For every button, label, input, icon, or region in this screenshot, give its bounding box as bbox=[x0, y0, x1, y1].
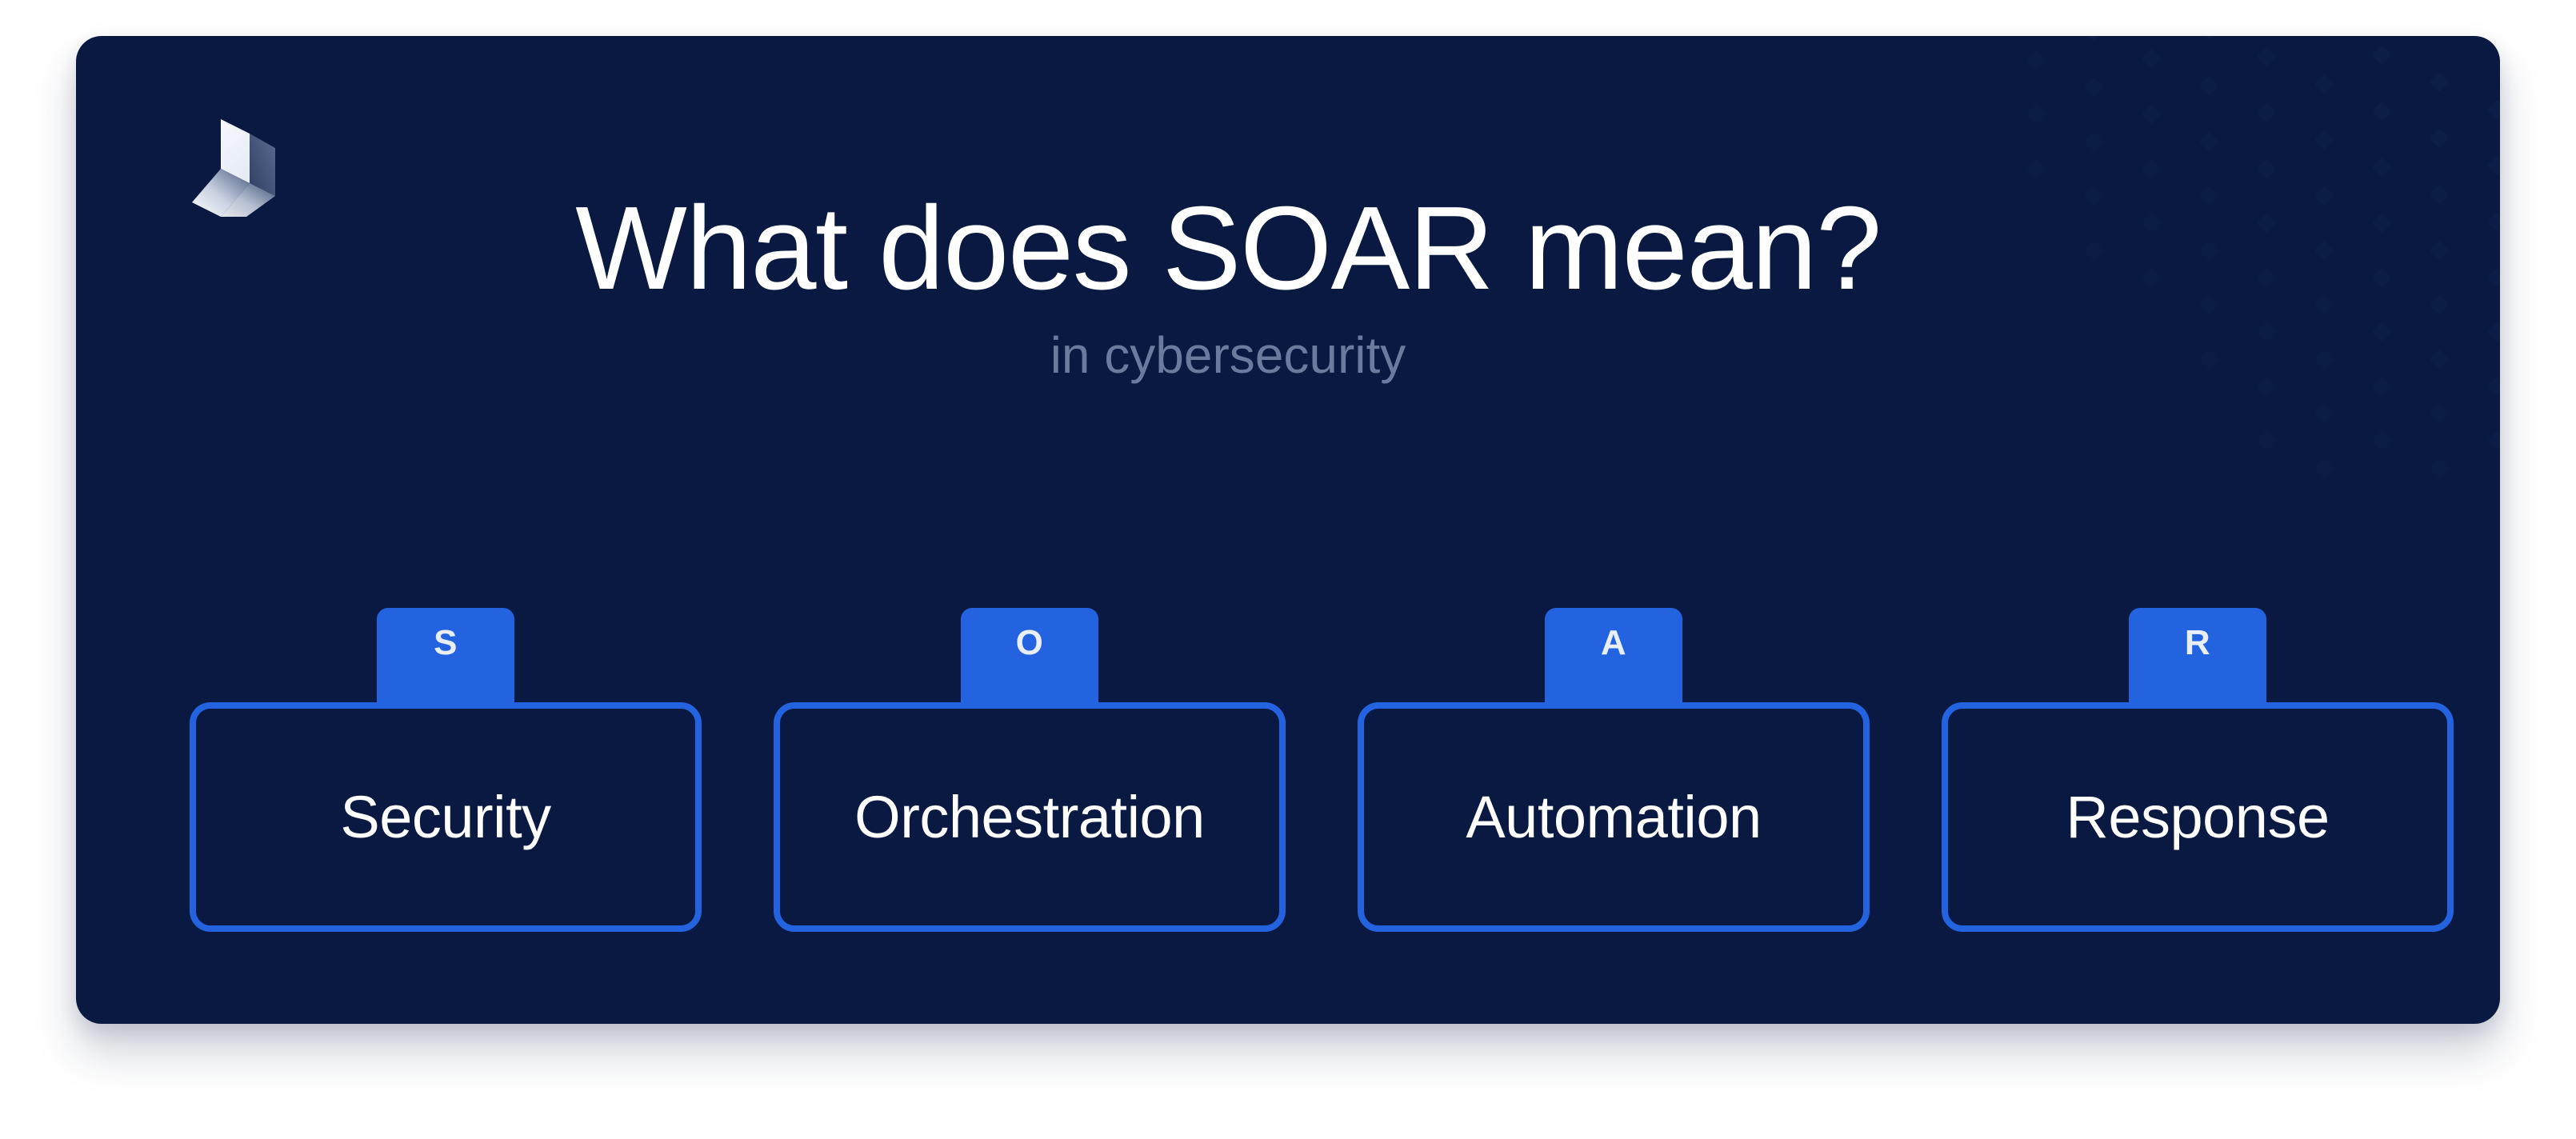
acronym-item-r: R Response bbox=[1942, 572, 2454, 932]
letter-tab-label: R bbox=[2185, 625, 2210, 661]
letter-tab-label: O bbox=[1016, 625, 1044, 661]
letter-tab-label: S bbox=[434, 625, 458, 661]
word-card-response: Response bbox=[1942, 702, 2454, 932]
acronym-item-o: O Orchestration bbox=[774, 572, 1286, 932]
letter-tab-o: O bbox=[961, 608, 1098, 710]
acronym-item-s: S Security bbox=[190, 572, 702, 932]
letter-tab-s: S bbox=[377, 608, 514, 710]
headline-block: What does SOAR mean? in cybersecurity bbox=[76, 188, 2380, 384]
word-card-security: Security bbox=[190, 702, 702, 932]
acronym-card-row: S Security O Orchestration A A bbox=[190, 572, 2454, 932]
word-card-label: Automation bbox=[1466, 788, 1761, 847]
word-card-label: Security bbox=[340, 788, 550, 847]
word-card-label: Response bbox=[2066, 788, 2329, 847]
page-subtitle: in cybersecurity bbox=[76, 327, 2380, 383]
acronym-item-a: A Automation bbox=[1358, 572, 1870, 932]
page-stage: What does SOAR mean? in cybersecurity S … bbox=[0, 0, 2576, 1139]
letter-tab-a: A bbox=[1545, 608, 1682, 710]
hero-card: What does SOAR mean? in cybersecurity S … bbox=[76, 36, 2500, 1024]
page-title: What does SOAR mean? bbox=[76, 188, 2380, 310]
letter-tab-label: A bbox=[1601, 625, 1626, 661]
word-card-orchestration: Orchestration bbox=[774, 702, 1286, 932]
letter-tab-r: R bbox=[2129, 608, 2266, 710]
word-card-automation: Automation bbox=[1358, 702, 1870, 932]
word-card-label: Orchestration bbox=[854, 788, 1205, 847]
